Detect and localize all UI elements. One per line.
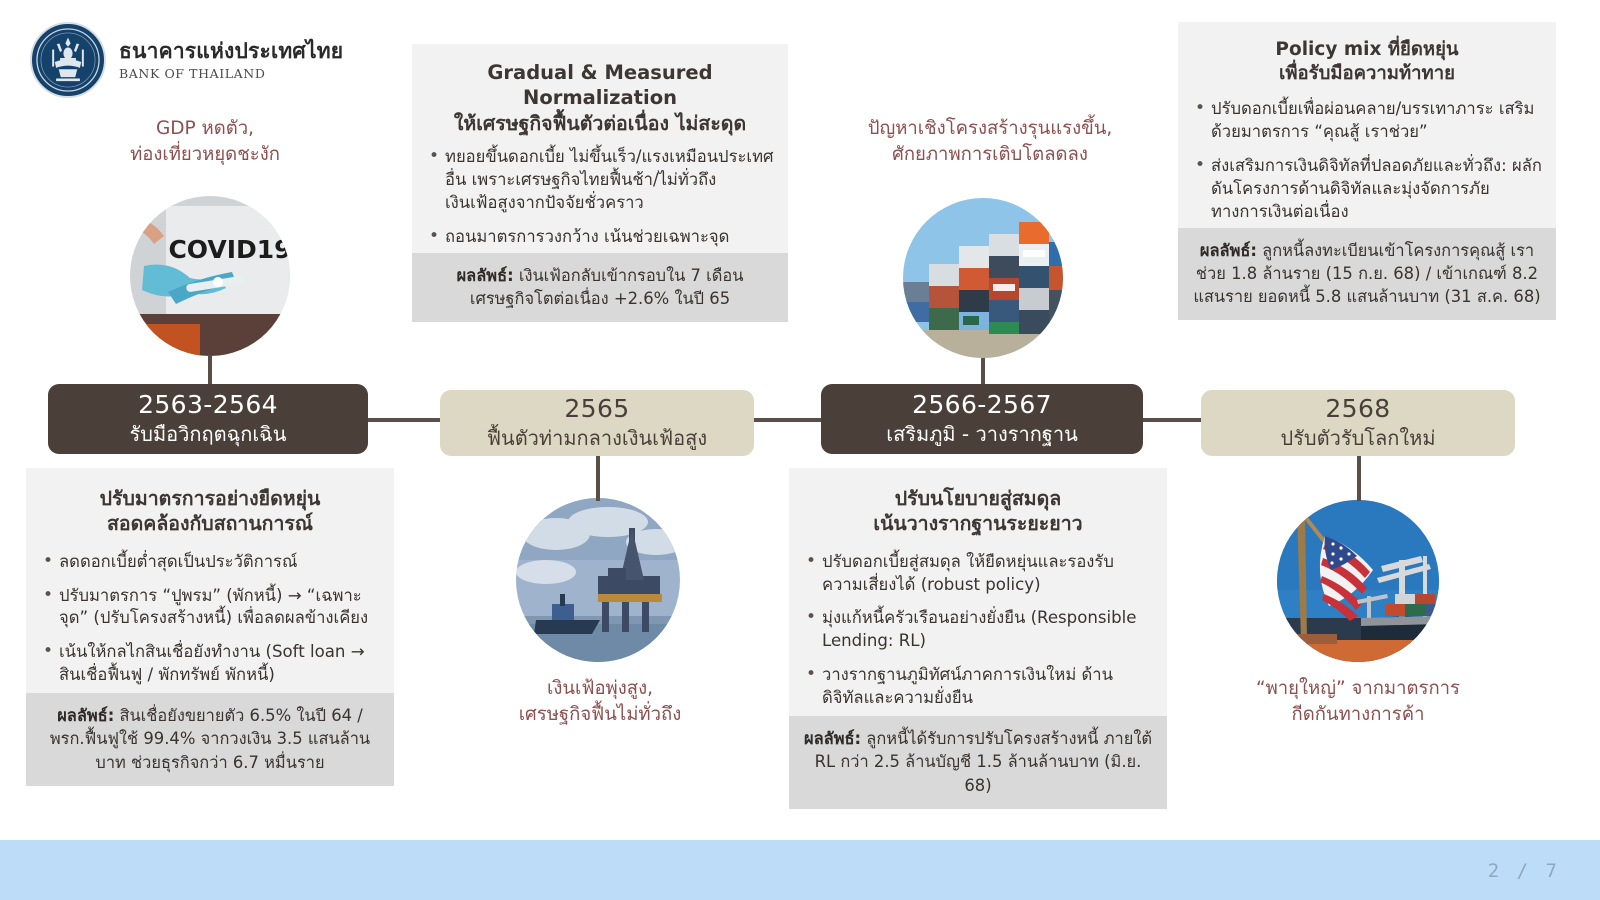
bullet-list-col1: ลดดอกเบี้ยต่ำสุดเป็นประวัติการณ์ ปรับมาต… [26,551,394,687]
panel-col3: ปรับนโยบายสู่สมดุล เน้นวางรากฐานระยะยาว … [789,468,1167,809]
bot-logo: ธนาคารแห่งประเทศไทย BANK OF THAILAND [30,22,343,98]
timeline-stub-2 [596,455,600,501]
panel-col4: Policy mix ที่ยืดหยุ่น เพื่อรับมือความท้… [1178,22,1556,320]
panel-col2: Gradual & Measured Normalization ให้เศรษ… [412,44,788,322]
list-item: ถอนมาตรการวงกว้าง เน้นช่วยเฉพาะจุด [428,226,774,249]
caption-col1: GDP หดตัว, ท่องเที่ยวหยุดชะงัก [60,116,350,169]
result-label-col4: ผลลัพธ์: [1200,241,1257,260]
timeline-bar-2566-2567[interactable]: 2566-2567 เสริมภูมิ - วางรากฐาน [821,384,1143,454]
timeline-bar-2565[interactable]: 2565 ฟื้นตัวท่ามกลางเงินเฟ้อสูง [440,390,754,456]
timeline-year: 2566-2567 [912,391,1052,419]
panel-title-col1: ปรับมาตรการอย่างยืดหยุ่น สอดคล้องกับสถาน… [26,486,394,537]
timeline-subtitle: ฟื้นตัวท่ามกลางเงินเฟ้อสูง [487,426,707,451]
bullet-list-col3: ปรับดอกเบี้ยสู่สมดุล ให้ยืดหยุ่นและรองรั… [789,551,1167,710]
svg-text:COVID19: COVID19 [168,235,290,264]
timeline-connector-1 [360,418,452,422]
timeline-connector-2 [742,418,832,422]
slide-canvas: ธนาคารแห่งประเทศไทย BANK OF THAILAND GDP… [0,0,1600,900]
covid19-vaccine-photo: COVID19 [130,196,290,356]
result-text-col3: ลูกหนี้ได้รับการปรับโครงสร้างหนี้ ภายใต้… [815,729,1152,795]
list-item: ปรับมาตรการ “ปูพรม” (พักหนี้) → “เฉพาะจุ… [42,585,380,631]
garuda-seal-icon [30,22,106,98]
result-label-col1: ผลลัพธ์: [57,706,114,725]
brand-name-en: BANK OF THAILAND [119,66,343,81]
result-strip-col4: ผลลัพธ์: ลูกหนี้ลงทะเบียนเข้าโครงการคุณส… [1178,228,1556,321]
timeline-stub-4 [1357,455,1361,501]
bullet-list-col2: ทยอยขึ้นดอกเบี้ย ไม่ขึ้นเร็ว/แรงเหมือนปร… [412,146,788,249]
list-item: วางรากฐานภูมิทัศน์ภาคการเงินใหม่ ด้านดิจ… [805,664,1153,710]
bullet-list-col4: ปรับดอกเบี้ยเพื่อผ่อนคลาย/บรรเทาภาระ เสร… [1178,98,1556,223]
list-item: ส่งเสริมการเงินดิจิทัลที่ปลอดภัยและทั่วถ… [1194,155,1542,224]
panel-col1: ปรับมาตรการอย่างยืดหยุ่น สอดคล้องกับสถาน… [26,468,394,786]
brand-name-th: ธนาคารแห่งประเทศไทย [119,39,343,63]
result-label-col3: ผลลัพธ์: [804,729,861,748]
result-strip-col1: ผลลัพธ์: สินเชื่อยังขยายตัว 6.5% ในปี 64… [26,693,394,786]
list-item: ปรับดอกเบี้ยสู่สมดุล ให้ยืดหยุ่นและรองรั… [805,551,1153,597]
timeline-subtitle: เสริมภูมิ - วางรากฐาน [886,422,1078,447]
caption-col4: “พายุใหญ่” จากมาตรการ กีดกันทางการค้า [1233,676,1483,729]
result-strip-col2: ผลลัพธ์: เงินเฟ้อกลับเข้ากรอบใน 7 เดือน … [412,253,788,323]
timeline-year: 2563-2564 [138,391,278,419]
list-item: เน้นให้กลไกสินเชื่อยังทำงาน (Soft loan →… [42,641,380,687]
result-label-col2: ผลลัพธ์: [457,266,514,285]
panel-title-col2: Gradual & Measured Normalization ให้เศรษ… [412,60,788,136]
panel-title-col3: ปรับนโยบายสู่สมดุล เน้นวางรากฐานระยะยาว [789,486,1167,537]
list-item: มุ่งแก้หนี้ครัวเรือนอย่างยั่งยืน (Respon… [805,607,1153,653]
timeline-year: 2565 [564,395,629,423]
shipping-containers-photo [903,198,1063,358]
timeline-stub-1 [208,356,212,384]
timeline-bar-2568[interactable]: 2568 ปรับตัวรับโลกใหม่ [1201,390,1515,456]
result-strip-col3: ผลลัพธ์: ลูกหนี้ได้รับการปรับโครงสร้างหน… [789,716,1167,809]
page-number: 2 / 7 [1488,860,1560,882]
timeline-year: 2568 [1325,395,1390,423]
list-item: ทยอยขึ้นดอกเบี้ย ไม่ขึ้นเร็ว/แรงเหมือนปร… [428,146,774,215]
timeline-subtitle: รับมือวิกฤตฉุกเฉิน [130,422,287,447]
panel-title-col4: Policy mix ที่ยืดหยุ่น เพื่อรับมือความท้… [1178,38,1556,86]
footer-band [0,840,1600,900]
us-flag-port-photo [1277,500,1439,662]
list-item: ปรับดอกเบี้ยเพื่อผ่อนคลาย/บรรเทาภาระ เสร… [1194,98,1542,144]
caption-col2: เงินเฟ้อพุ่งสูง, เศรษฐกิจฟื้นไม่ทั่วถึง [470,676,730,729]
list-item: ลดดอกเบี้ยต่ำสุดเป็นประวัติการณ์ [42,551,380,574]
timeline-subtitle: ปรับตัวรับโลกใหม่ [1280,426,1435,451]
timeline-bar-2563-2564[interactable]: 2563-2564 รับมือวิกฤตฉุกเฉิน [48,384,368,454]
offshore-oil-rig-photo [516,498,680,662]
timeline-stub-3 [981,358,985,384]
caption-col3: ปัญหาเชิงโครงสร้างรุนแรงขึ้น, ศักยภาพการ… [820,116,1160,169]
